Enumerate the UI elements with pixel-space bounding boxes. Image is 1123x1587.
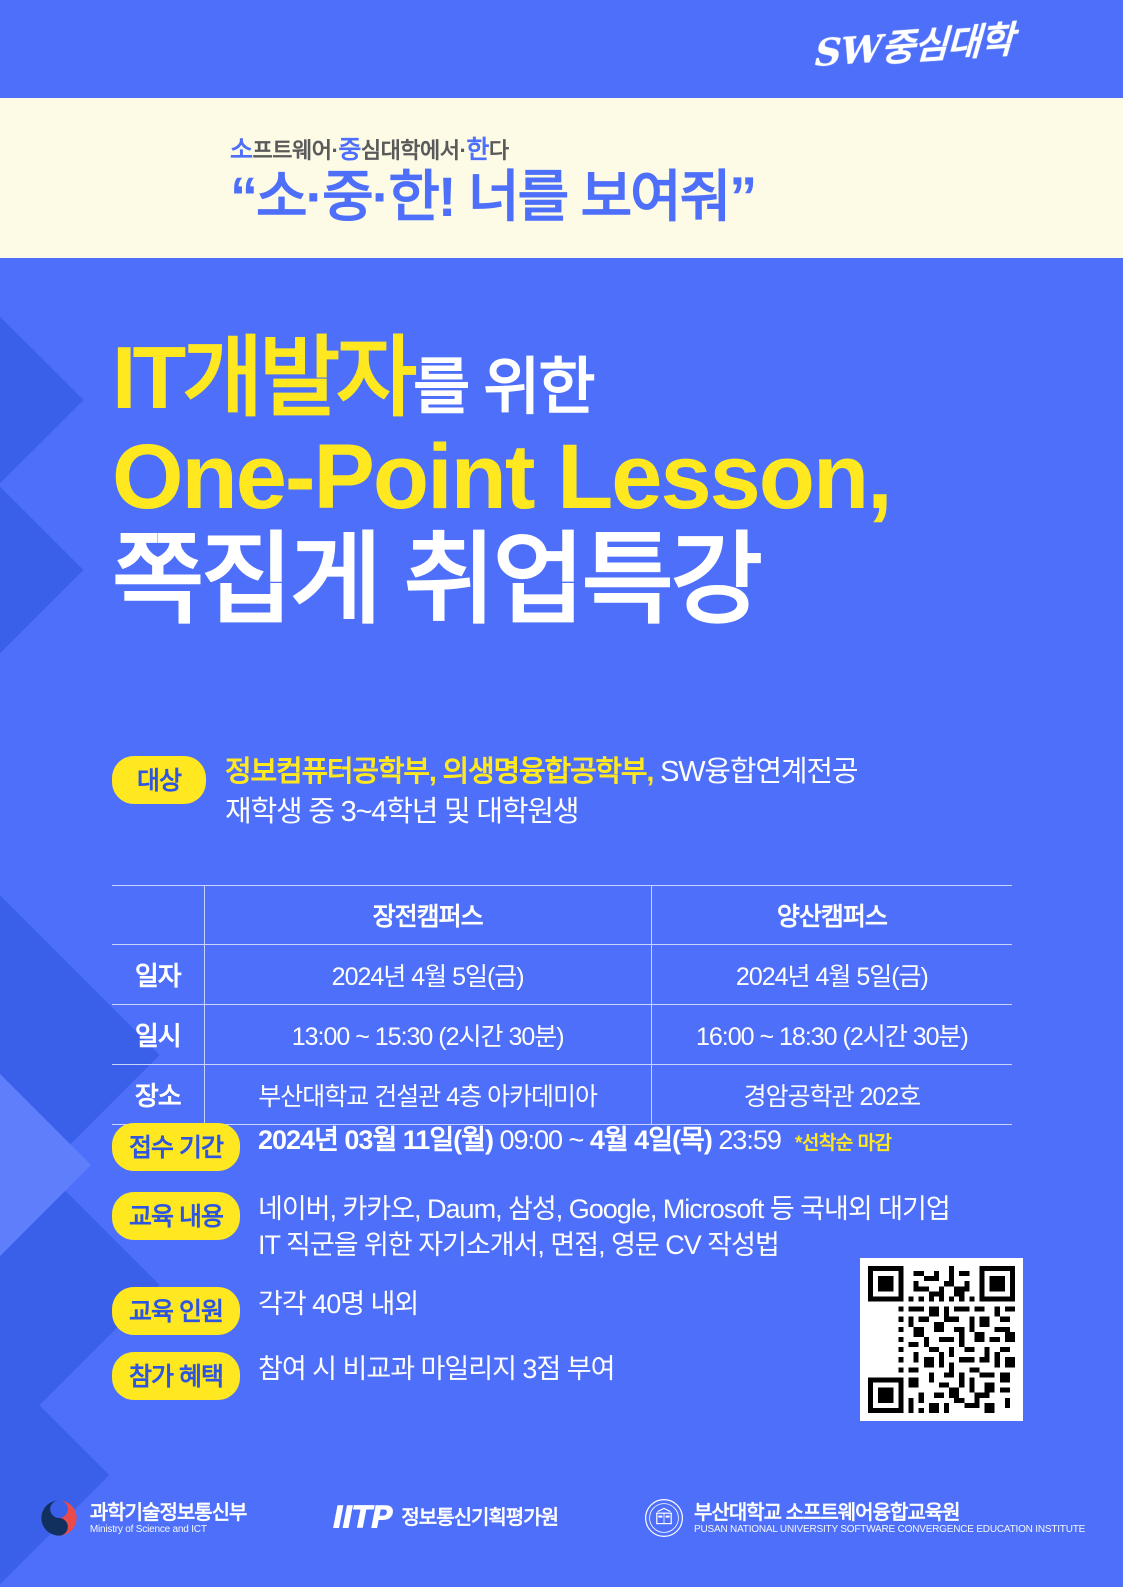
course-content-value: 네이버, 카카오, Daum, 삼성, Google, Microsoft 등 … (258, 1189, 950, 1264)
row-header-venue: 장소 (112, 1065, 204, 1125)
slogan-headline: “소·중·한! 너를 보여줘” (230, 168, 755, 227)
registration-period-row: 접수 기간 2024년 03월 11일(월) 09:00 ~ 4월 4일(목) … (112, 1120, 1032, 1171)
target-departments-plain: SW융합연계전공 (653, 756, 857, 788)
diamond-shape (0, 1059, 91, 1271)
course-content-line-1: 네이버, 카카오, Daum, 삼성, Google, Microsoft 등 … (258, 1191, 950, 1227)
pnu-name-ko: 부산대학교 소프트웨어융합교육원 (694, 1502, 1085, 1524)
iitp-wordmark-icon: IITP (332, 1500, 391, 1536)
diamond-shape (0, 259, 83, 542)
footer-logo-iitp: IITP 정보통신기획평가원 (332, 1500, 558, 1536)
iitp-name-ko: 정보통신기획평가원 (401, 1507, 558, 1529)
row-header-date: 일자 (112, 945, 204, 1005)
tagline-post: 다 (489, 138, 509, 163)
target-departments-highlight: 정보컴퓨터공학부, 의생명융합공학부, (225, 756, 653, 788)
slogan-banner: 소프트웨어·중심대학에서·한다 “소·중·한! 너를 보여줘” (0, 98, 1123, 258)
benefit-value: 참여 시 비교과 마일리지 3점 부여 (258, 1349, 614, 1387)
target-label-badge: 대상 (112, 756, 206, 804)
schedule-table: 장전캠퍼스 양산캠퍼스 일자 2024년 4월 5일(금) 2024년 4월 5… (112, 885, 1012, 1125)
benefit-badge: 참가 혜택 (112, 1352, 240, 1400)
cell-date-yangsan: 2024년 4월 5일(금) (651, 945, 1012, 1005)
period-start-date: 2024년 03월 11일(월) (258, 1125, 493, 1155)
tagline-hi-han: 한 (466, 136, 489, 164)
period-start-time: 09:00 ~ (493, 1125, 590, 1155)
period-end-date: 4월 4일(목) (590, 1125, 712, 1155)
capacity-badge: 교육 인원 (112, 1287, 240, 1335)
target-audience-text: 정보컴퓨터공학부, 의생명융합공학부, SW융합연계전공 재학생 중 3~4학년… (225, 752, 857, 832)
title-line1-highlight: IT개발자 (112, 328, 413, 427)
schedule-table-head: 장전캠퍼스 양산캠퍼스 (112, 886, 1012, 945)
first-come-note: *선착순 마감 (795, 1133, 892, 1154)
cell-time-jangjeon: 13:00 ~ 15:30 (2시간 30분) (204, 1005, 651, 1065)
qr-icon (868, 1266, 1015, 1413)
tagline-pre: 프트웨어 (253, 138, 332, 163)
capacity-value: 각각 40명 내외 (258, 1284, 418, 1322)
cell-date-jangjeon: 2024년 4월 5일(금) (204, 945, 651, 1005)
msit-logo-text: 과학기술정보통신부 Ministry of Science and ICT (90, 1502, 247, 1535)
course-content-row: 교육 내용 네이버, 카카오, Daum, 삼성, Google, Micros… (112, 1189, 1032, 1264)
slogan-tagline: 소프트웨어·중심대학에서·한다 (230, 130, 509, 166)
sw-center-university-logo: SW중심대학 (814, 9, 1014, 77)
msit-name-en: Ministry of Science and ICT (90, 1524, 247, 1535)
registration-qr-code[interactable] (860, 1258, 1023, 1421)
course-content-badge: 교육 내용 (112, 1192, 240, 1240)
msit-name-ko: 과학기술정보통신부 (90, 1502, 247, 1524)
tagline-hi-jung: 중 (338, 136, 361, 164)
table-col-yangsan: 양산캠퍼스 (651, 886, 1012, 945)
title-line1-plain: 를 위한 (413, 353, 593, 422)
cell-venue-yangsan: 경암공학관 202호 (651, 1065, 1012, 1125)
registration-period-badge: 접수 기간 (112, 1123, 240, 1171)
pnu-seal-icon (644, 1498, 684, 1538)
target-line-1: 정보컴퓨터공학부, 의생명융합공학부, SW융합연계전공 (225, 752, 857, 792)
table-col-jangjeon: 장전캠퍼스 (204, 886, 651, 945)
table-header-row: 장전캠퍼스 양산캠퍼스 (112, 886, 1012, 945)
table-row: 일자 2024년 4월 5일(금) 2024년 4월 5일(금) (112, 945, 1012, 1005)
registration-period-value: 2024년 03월 11일(월) 09:00 ~ 4월 4일(목) 23:59*… (258, 1120, 892, 1158)
target-line-2: 재학생 중 3~4학년 및 대학원생 (225, 792, 857, 832)
row-header-time: 일시 (112, 1005, 204, 1065)
course-content-line-2: IT 직군을 위한 자기소개서, 면접, 영문 CV 작성법 (258, 1227, 950, 1263)
main-title: IT개발자를 위한 One-Point Lesson, 쪽집게 취업특강 (112, 333, 891, 631)
cell-time-yangsan: 16:00 ~ 18:30 (2시간 30분) (651, 1005, 1012, 1065)
diamond-shape (0, 1355, 109, 1587)
table-corner-cell (112, 886, 204, 945)
footer-logos: 과학기술정보통신부 Ministry of Science and ICT II… (0, 1497, 1123, 1539)
poster-root: SW중심대학 소프트웨어·중심대학에서·한다 “소·중·한! 너를 보여줘” I… (0, 0, 1123, 1587)
table-row: 장소 부산대학교 건설관 4층 아카데미아 경암공학관 202호 (112, 1065, 1012, 1125)
title-line-2: One-Point Lesson, (112, 431, 891, 525)
tagline-mid: 심대학에서 (361, 138, 460, 163)
cell-venue-jangjeon: 부산대학교 건설관 4층 아카데미아 (204, 1065, 651, 1125)
diamond-shape (0, 429, 83, 712)
taegeuk-mark-icon (38, 1497, 80, 1539)
top-bar: SW중심대학 (0, 0, 1123, 98)
tagline-hi-so: 소 (230, 136, 253, 164)
schedule-table-body: 일자 2024년 4월 5일(금) 2024년 4월 5일(금) 일시 13:0… (112, 945, 1012, 1125)
pnu-logo-text: 부산대학교 소프트웨어융합교육원 PUSAN NATIONAL UNIVERSI… (694, 1502, 1085, 1535)
title-line-1: IT개발자를 위한 (112, 333, 891, 423)
footer-logo-pnu: 부산대학교 소프트웨어융합교육원 PUSAN NATIONAL UNIVERSI… (644, 1498, 1085, 1538)
table-row: 일시 13:00 ~ 15:30 (2시간 30분) 16:00 ~ 18:30… (112, 1005, 1012, 1065)
title-line-3: 쪽집게 취업특강 (112, 529, 891, 631)
period-end-time: 23:59 (712, 1125, 781, 1155)
footer-logo-msit: 과학기술정보통신부 Ministry of Science and ICT (38, 1497, 247, 1539)
pnu-name-en: PUSAN NATIONAL UNIVERSITY SOFTWARE CONVE… (694, 1524, 1085, 1535)
target-audience-section: 대상 정보컴퓨터공학부, 의생명융합공학부, SW융합연계전공 재학생 중 3~… (112, 752, 857, 832)
